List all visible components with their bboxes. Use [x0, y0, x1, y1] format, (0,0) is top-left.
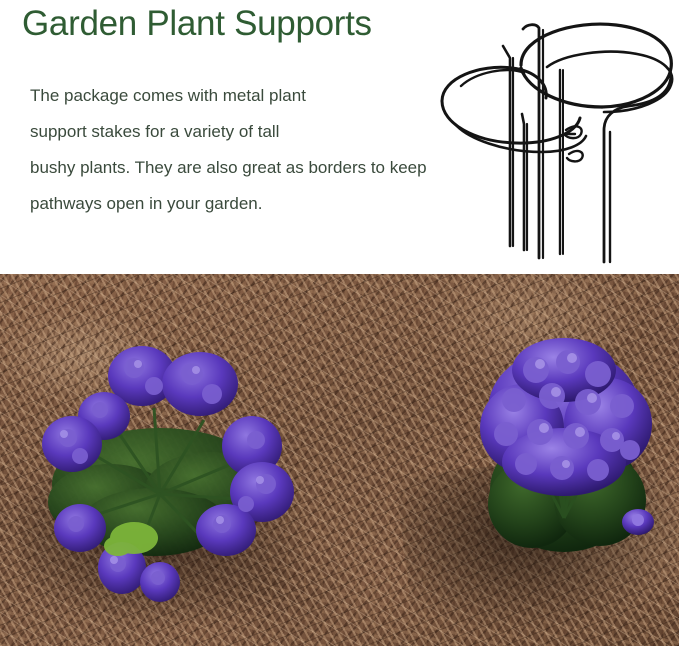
product-infographic: Garden Plant Supports The package comes …: [0, 0, 679, 646]
plant-after-supported: [452, 322, 679, 572]
before-after-photo: [0, 274, 679, 646]
plant-support-illustration-icon: [424, 6, 679, 264]
info-panel: Garden Plant Supports The package comes …: [0, 0, 679, 274]
plant-before-unsupported: [14, 324, 304, 614]
page-title: Garden Plant Supports: [22, 2, 372, 46]
